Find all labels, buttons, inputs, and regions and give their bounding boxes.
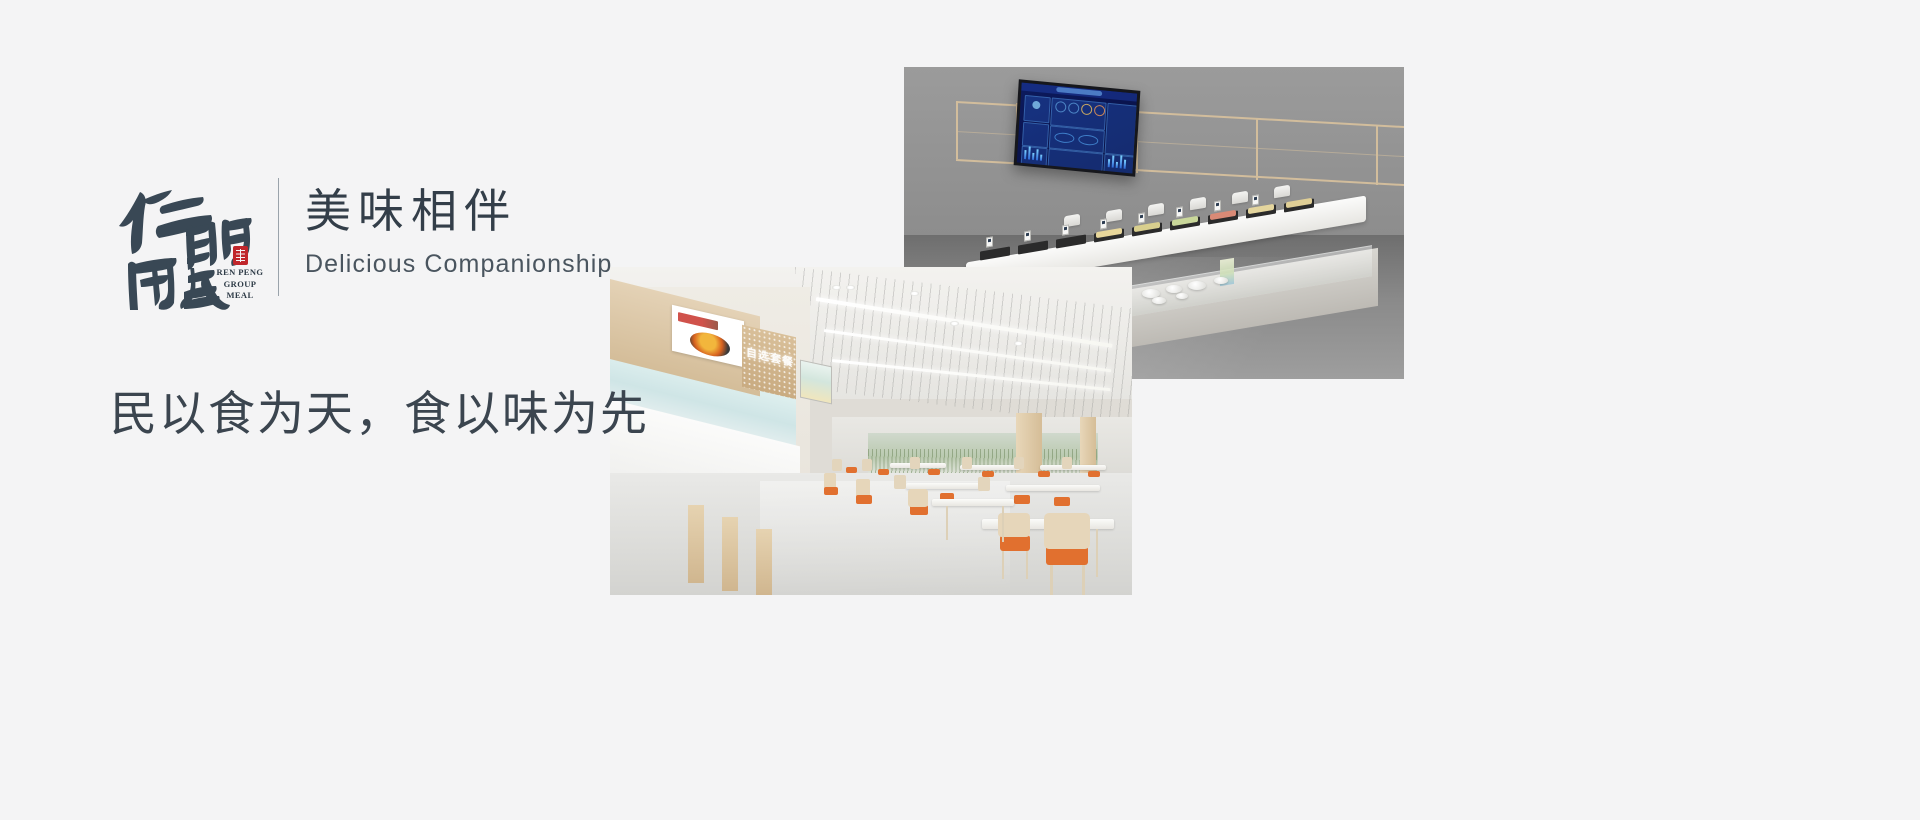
cafeteria-interior-image: 自选套餐 xyxy=(610,267,1132,595)
table-leg-2 xyxy=(1096,529,1098,577)
counter-door-2 xyxy=(722,517,738,591)
brand-headline-group: 美味相伴 Delicious Companionship xyxy=(305,170,612,282)
chair-mid-4 xyxy=(1054,497,1070,506)
chair-far-7 xyxy=(962,457,972,469)
chair-far-11 xyxy=(1062,457,1072,469)
seal-english-line-2: GROUP xyxy=(214,279,266,291)
table2-leg-1 xyxy=(946,506,948,540)
ceiling-downlight-6 xyxy=(1014,341,1023,346)
chair-far-12 xyxy=(1088,471,1100,477)
brand-lockup: REN PENG GROUP MEAL 美味相伴 Delicious Compa… xyxy=(110,170,612,310)
dashboard-bar-5 xyxy=(1040,155,1042,161)
dish-stack-6 xyxy=(1176,293,1188,299)
chair-far-5 xyxy=(910,457,920,469)
electronic-price-tag-2 xyxy=(1024,230,1031,241)
chair-near-3-back xyxy=(908,489,928,507)
seal-english-line-3: MEAL xyxy=(214,290,266,302)
table2-leg-2 xyxy=(1002,506,1004,542)
counter-hood-5 xyxy=(1232,191,1248,205)
dining-table-near-2 xyxy=(932,499,1014,506)
electronic-price-tag-1 xyxy=(986,236,993,247)
chair-left-2 xyxy=(824,487,838,495)
wall-dashboard-display xyxy=(1014,79,1141,177)
lightbox-dish-photo xyxy=(690,329,730,360)
canopy-post-5 xyxy=(1376,125,1378,185)
ceiling-downlight-2 xyxy=(832,285,841,290)
ceiling-downlight-5 xyxy=(950,321,959,326)
chair-near-1 xyxy=(1000,535,1030,551)
chair-far-6 xyxy=(928,469,940,475)
dashboard-card-avatar xyxy=(1023,95,1050,123)
dashboard-bar-8 xyxy=(1116,162,1118,168)
dashboard-card-list-right xyxy=(1104,103,1137,157)
electronic-price-tag-3 xyxy=(1062,224,1069,235)
electronic-price-tag-8 xyxy=(1252,194,1259,205)
counter-door-1 xyxy=(688,505,704,583)
dining-table-mid-2 xyxy=(1006,485,1100,491)
company-logo: REN PENG GROUP MEAL xyxy=(110,170,260,310)
chair-near-1-leg-1 xyxy=(1002,551,1004,579)
counter-hood-3 xyxy=(1148,203,1164,217)
dashboard-bar-3 xyxy=(1032,153,1034,160)
dish-stack-2 xyxy=(1166,285,1182,293)
dish-stack-3 xyxy=(1188,281,1206,290)
electronic-price-tag-7 xyxy=(1214,200,1221,211)
chair-far-2 xyxy=(846,467,857,473)
chair-near-2-leg-1 xyxy=(1050,565,1053,595)
electronic-price-tag-6 xyxy=(1176,206,1183,217)
chair-far-3 xyxy=(862,459,872,471)
dashboard-card-radar xyxy=(1022,122,1049,148)
electronic-price-tag-5 xyxy=(1138,212,1145,223)
chair-near-2-leg-2 xyxy=(1082,565,1085,595)
chair-far-1 xyxy=(832,459,842,471)
dish-stack-4 xyxy=(1214,277,1228,284)
dashboard-screen xyxy=(1017,83,1137,174)
ceiling-downlight-3 xyxy=(846,285,855,290)
hero-banner: REN PENG GROUP MEAL 美味相伴 Delicious Compa… xyxy=(0,0,1920,820)
brand-divider xyxy=(278,178,279,296)
counter-hood-4 xyxy=(1190,197,1206,211)
dish-stack-5 xyxy=(1152,297,1166,304)
electronic-price-tag-4 xyxy=(1100,218,1107,229)
counter-hood-2 xyxy=(1106,209,1122,223)
canopy-post-1 xyxy=(956,101,958,159)
digital-menu-screen xyxy=(800,360,832,405)
brand-headline-en: Delicious Companionship xyxy=(305,246,612,282)
chair-far-4 xyxy=(878,469,889,475)
brand-tagline: 民以食为天，食以味为先 xyxy=(110,382,649,446)
dining-table-far-3 xyxy=(1040,465,1106,470)
chair-mid-3 xyxy=(1014,495,1030,504)
counter-door-3 xyxy=(756,529,772,595)
seal-with-english: REN PENG GROUP MEAL xyxy=(214,246,266,302)
chair-far-9 xyxy=(1014,457,1024,469)
chair-near-1-leg-2 xyxy=(1026,551,1028,579)
ceiling-downlight-4 xyxy=(910,291,919,296)
seal-english-line-1: REN PENG xyxy=(214,267,266,279)
chair-left-1 xyxy=(856,495,872,504)
counter-hood-6 xyxy=(1274,185,1290,199)
lightbox-logo-mark xyxy=(678,312,718,330)
chair-mid-5 xyxy=(894,475,906,489)
chair-far-10 xyxy=(1038,471,1050,477)
brand-headline-cn: 美味相伴 xyxy=(305,182,612,240)
canopy-post-4 xyxy=(1256,118,1258,180)
chair-mid-6 xyxy=(978,477,990,491)
chair-near-2-back xyxy=(1044,513,1090,549)
red-seal-stamp-icon xyxy=(233,246,248,265)
